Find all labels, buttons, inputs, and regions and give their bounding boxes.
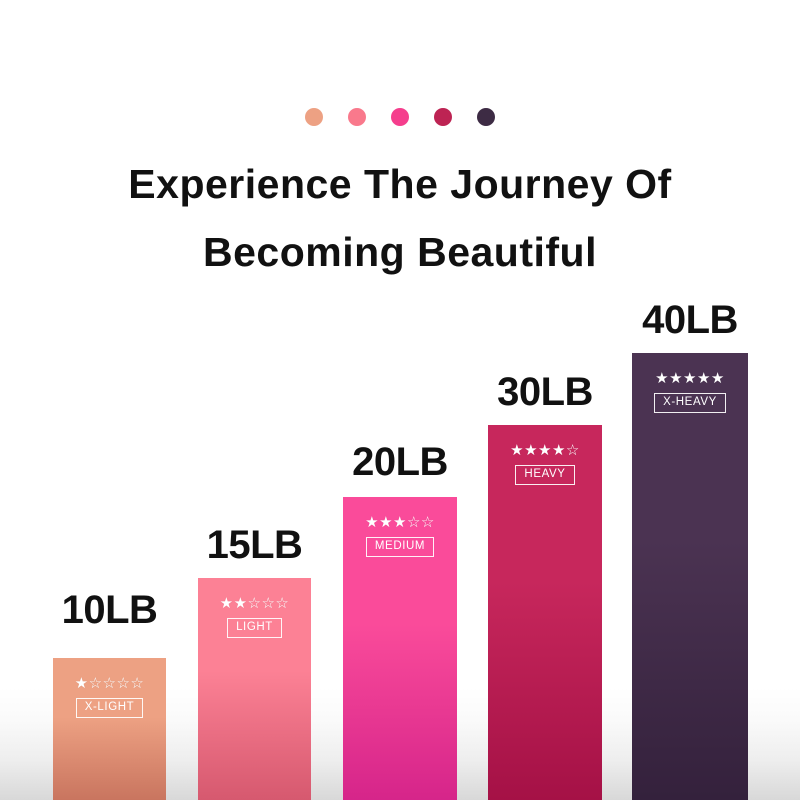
bar-content-30lb: ★★★★☆HEAVY <box>488 443 602 485</box>
bar-10lb[interactable]: ★☆☆☆☆X-LIGHT <box>53 658 166 800</box>
star-rating-20lb: ★★★☆☆ <box>365 515 435 530</box>
bar-value-label-30lb: 30LB <box>497 370 593 415</box>
resistance-band-bar-chart: 10LB★☆☆☆☆X-LIGHT15LB★★☆☆☆LIGHT20LB★★★☆☆M… <box>0 0 800 800</box>
bar-40lb[interactable]: ★★★★★X-HEAVY <box>632 353 748 800</box>
bar-value-label-40lb: 40LB <box>642 298 738 343</box>
bar-content-15lb: ★★☆☆☆LIGHT <box>198 596 311 638</box>
star-rating-15lb: ★★☆☆☆ <box>220 596 290 611</box>
resistance-badge-20lb: MEDIUM <box>366 537 434 557</box>
star-rating-40lb: ★★★★★ <box>655 371 725 386</box>
infographic-canvas: Experience The Journey Of Becoming Beaut… <box>0 0 800 800</box>
bar-30lb[interactable]: ★★★★☆HEAVY <box>488 425 602 800</box>
bar-value-label-15lb: 15LB <box>207 523 303 568</box>
bar-value-label-20lb: 20LB <box>352 440 448 485</box>
bar-content-40lb: ★★★★★X-HEAVY <box>632 371 748 413</box>
resistance-badge-15lb: LIGHT <box>227 618 282 638</box>
resistance-badge-10lb: X-LIGHT <box>76 698 144 718</box>
bar-group-10lb[interactable]: 10LB★☆☆☆☆X-LIGHT <box>53 588 166 800</box>
star-rating-10lb: ★☆☆☆☆ <box>75 676 145 691</box>
bar-group-20lb[interactable]: 20LB★★★☆☆MEDIUM <box>343 440 457 800</box>
resistance-badge-30lb: HEAVY <box>515 465 574 485</box>
bar-group-30lb[interactable]: 30LB★★★★☆HEAVY <box>488 370 602 800</box>
bar-15lb[interactable]: ★★☆☆☆LIGHT <box>198 578 311 800</box>
bar-content-20lb: ★★★☆☆MEDIUM <box>343 515 457 557</box>
bar-group-15lb[interactable]: 15LB★★☆☆☆LIGHT <box>198 523 311 800</box>
star-rating-30lb: ★★★★☆ <box>510 443 580 458</box>
resistance-badge-40lb: X-HEAVY <box>654 393 726 413</box>
bar-20lb[interactable]: ★★★☆☆MEDIUM <box>343 497 457 800</box>
bar-group-40lb[interactable]: 40LB★★★★★X-HEAVY <box>632 298 748 800</box>
bar-content-10lb: ★☆☆☆☆X-LIGHT <box>53 676 166 718</box>
bar-value-label-10lb: 10LB <box>62 588 158 633</box>
